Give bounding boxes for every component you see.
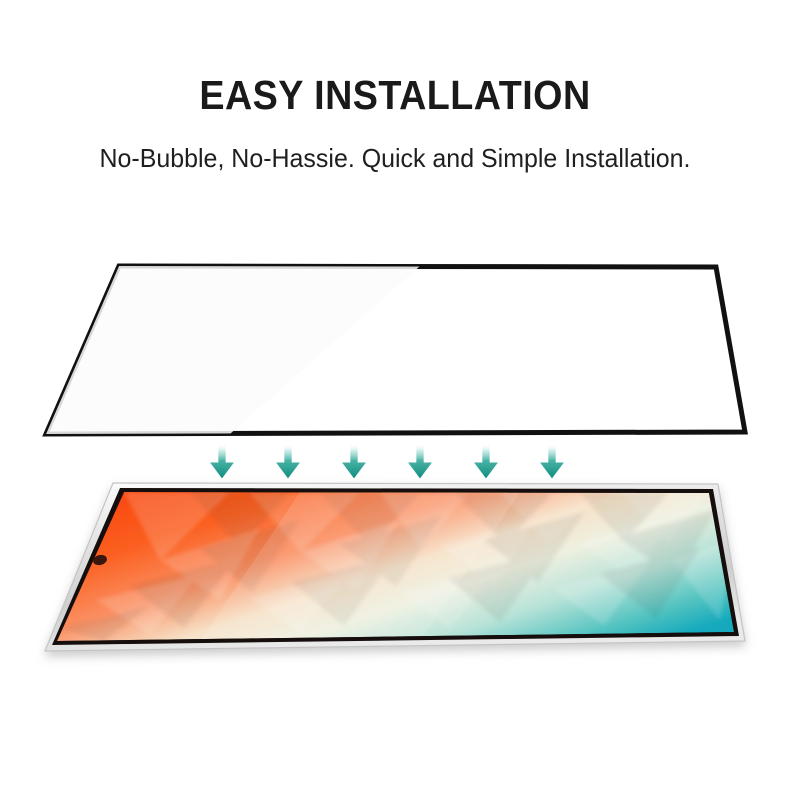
installation-arrow-2	[276, 444, 300, 478]
installation-arrow-1	[210, 444, 234, 478]
device-screen	[57, 492, 734, 641]
screen-protector	[46, 266, 745, 434]
installation-arrow-3	[342, 444, 366, 478]
installation-arrow-5	[474, 444, 498, 478]
installation-arrow-6	[540, 444, 564, 478]
product-illustration-page: EASY INSTALLATION No-Bubble, No-Hassie. …	[0, 0, 790, 790]
installation-diagram	[0, 0, 790, 790]
installation-diagram-svg	[0, 0, 790, 790]
tablet-device	[45, 483, 745, 651]
installation-arrow-4	[408, 444, 432, 478]
installation-arrows	[210, 444, 564, 478]
